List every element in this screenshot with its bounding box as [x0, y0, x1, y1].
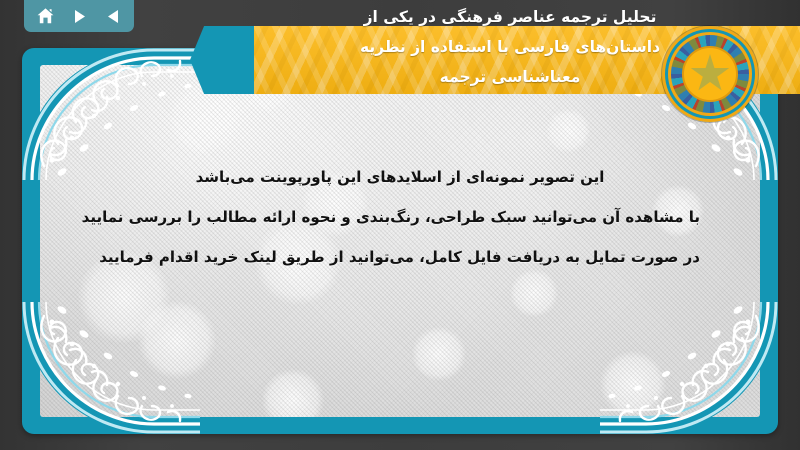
- next-slide-button[interactable]: [65, 4, 93, 28]
- slide-navigation-bar: [24, 0, 134, 32]
- slide-body-line-3: در صورت تمایل به دریافت فایل کامل، می‌تو…: [100, 237, 700, 277]
- previous-slide-button[interactable]: [99, 4, 127, 28]
- slide-body-line-2: با مشاهده آن می‌توانید سبک طراحی، رنگ‌بن…: [100, 197, 700, 237]
- slide-body-line-1: این تصویر نمونه‌ای از اسلایدهای این پاور…: [100, 157, 700, 197]
- slide-body-text: این تصویر نمونه‌ای از اسلایدهای این پاور…: [100, 157, 700, 277]
- home-button[interactable]: [31, 4, 59, 28]
- persian-medallion-icon: [662, 26, 758, 122]
- slide-content-panel: این تصویر نمونه‌ای از اسلایدهای این پاور…: [22, 48, 778, 434]
- slide-stage: تحلیل ترجمه عناصر فرهنگی در یکی از داستا…: [0, 0, 800, 450]
- bokeh-circle: [546, 109, 590, 153]
- bokeh-circle: [412, 327, 466, 381]
- slide-content-sheet: این تصویر نمونه‌ای از اسلایدهای این پاور…: [40, 65, 760, 417]
- bokeh-circle: [600, 351, 666, 417]
- bokeh-circle: [262, 369, 324, 417]
- bokeh-circle: [138, 301, 216, 379]
